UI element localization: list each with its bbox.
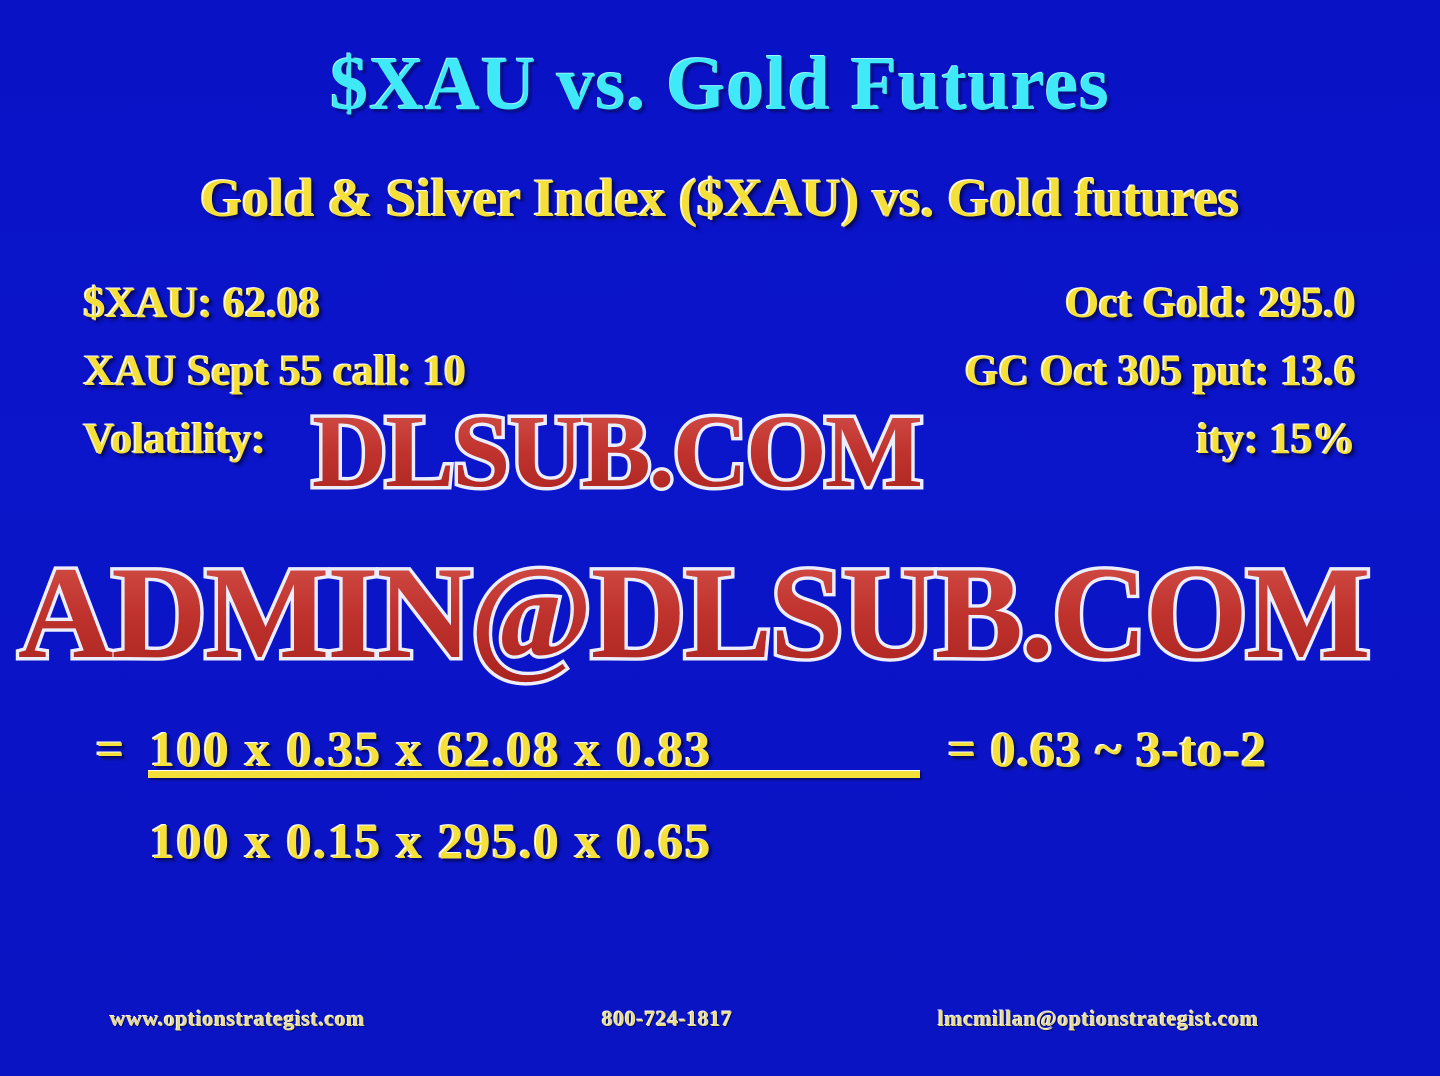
xau-spot-value: $XAU: 62.08 bbox=[84, 282, 320, 325]
xau-volatility-label: Volatility: bbox=[84, 418, 266, 461]
footer-email[interactable]: lmcmillan@optionstrategist.com bbox=[938, 1008, 1259, 1030]
footer-website[interactable]: www.optionstrategist.com bbox=[110, 1008, 365, 1030]
formula-result: = 0.63 ~ 3-to-2 bbox=[948, 724, 1267, 774]
gold-put-value: GC Oct 305 put: 13.6 bbox=[965, 350, 1356, 393]
formula-numerator: 100 x 0.35 x 62.08 x 0.83 bbox=[150, 724, 713, 774]
formula-equals-sign: = bbox=[96, 724, 125, 774]
footer: www.optionstrategist.com 800-724-1817 lm… bbox=[0, 1008, 1440, 1038]
watermark-dlsub-fill: DLSUB.COM bbox=[312, 392, 921, 511]
gold-futures-value: Oct Gold: 295.0 bbox=[1066, 282, 1356, 325]
footer-phone: 800-724-1817 bbox=[602, 1008, 733, 1030]
fraction-bar bbox=[148, 770, 920, 778]
xau-call-value: XAU Sept 55 call: 10 bbox=[84, 350, 466, 393]
data-row: $XAU: 62.08 Oct Gold: 295.0 bbox=[84, 282, 1356, 350]
page-title: $XAU vs. Gold Futures bbox=[0, 46, 1440, 122]
gold-volatility-value: ity: 15% bbox=[1197, 418, 1356, 461]
slide-subtitle: Gold & Silver Index ($XAU) vs. Gold futu… bbox=[0, 171, 1440, 225]
formula-denominator: 100 x 0.15 x 295.0 x 0.65 bbox=[150, 816, 713, 866]
slide-canvas: $XAU vs. Gold Futures Gold & Silver Inde… bbox=[0, 0, 1440, 1076]
watermark-admin-email-fill: ADMIN@DLSUB.COM bbox=[18, 536, 1368, 689]
